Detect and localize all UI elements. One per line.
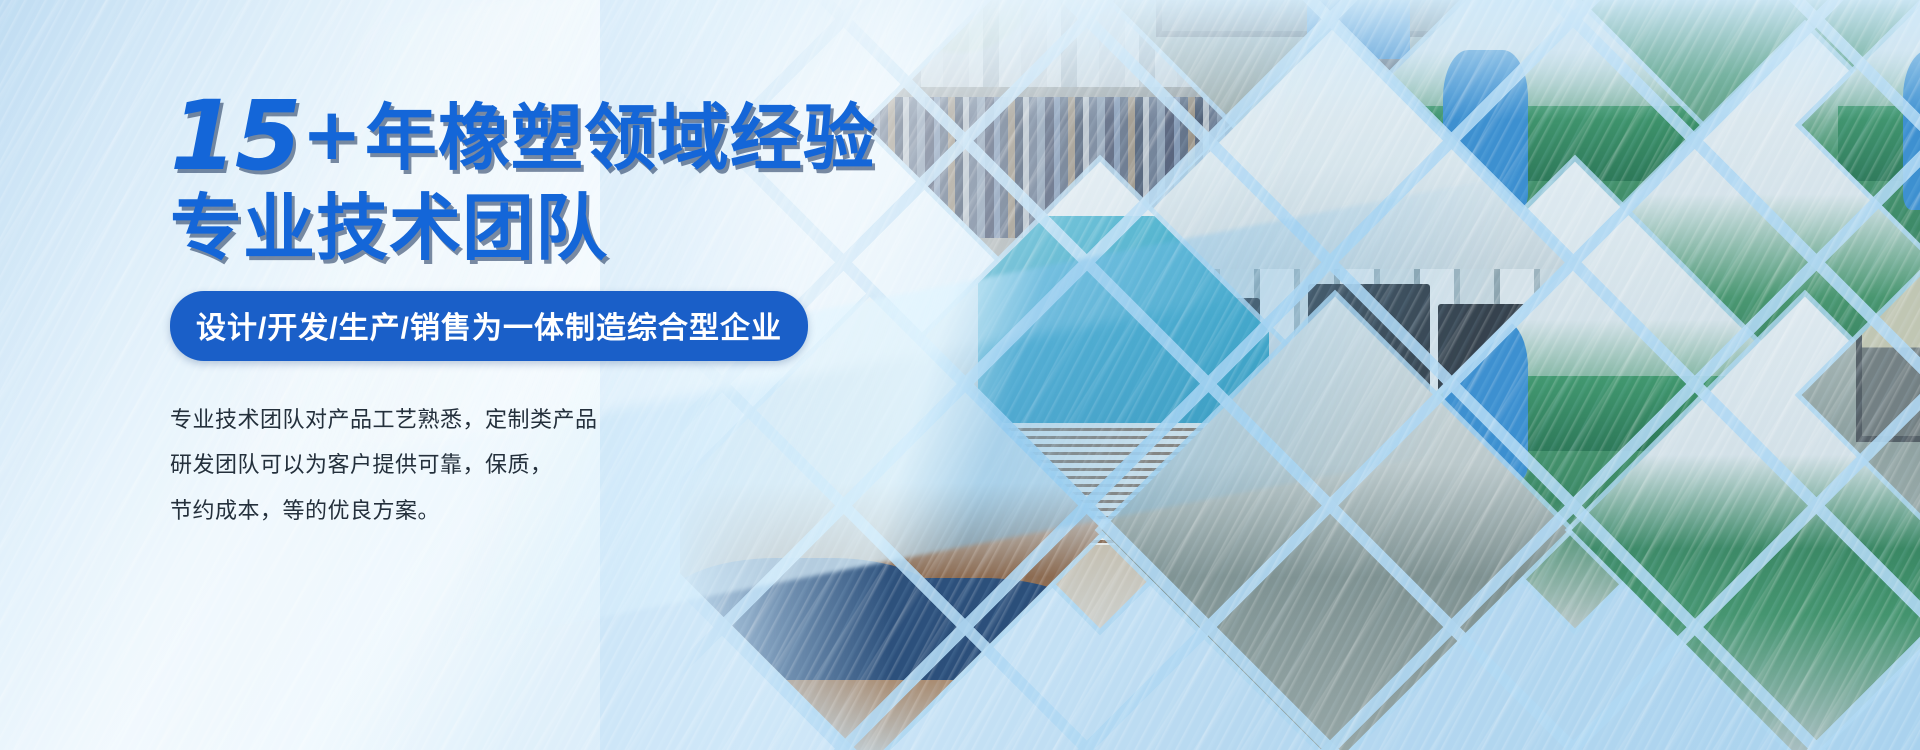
plus-sign: + [302,92,363,176]
description-paragraph: 专业技术团队对产品工艺熟悉，定制类产品 研发团队可以为客户提供可靠，保质， 节约… [170,397,790,532]
headline-line-1-text: 年橡塑领域经验 [365,96,876,180]
description-line-1: 专业技术团队对产品工艺熟悉，定制类产品 [170,397,790,442]
description-line-2: 研发团队可以为客户提供可靠，保质， [170,442,790,487]
headline-line-1: 15+年橡塑领域经验 [170,88,790,186]
description-line-3: 节约成本，等的优良方案。 [170,488,790,533]
tagline-badge: 设计/开发/生产/销售为一体制造综合型企业 [170,291,808,361]
company-hero-banner: 15+年橡塑领域经验 专业技术团队 设计/开发/生产/销售为一体制造综合型企业 … [0,0,1920,750]
hero-text-block: 15+年橡塑领域经验 专业技术团队 设计/开发/生产/销售为一体制造综合型企业 … [170,88,790,533]
years-number: 15 [170,80,300,192]
headline-line-2: 专业技术团队 [170,192,790,265]
